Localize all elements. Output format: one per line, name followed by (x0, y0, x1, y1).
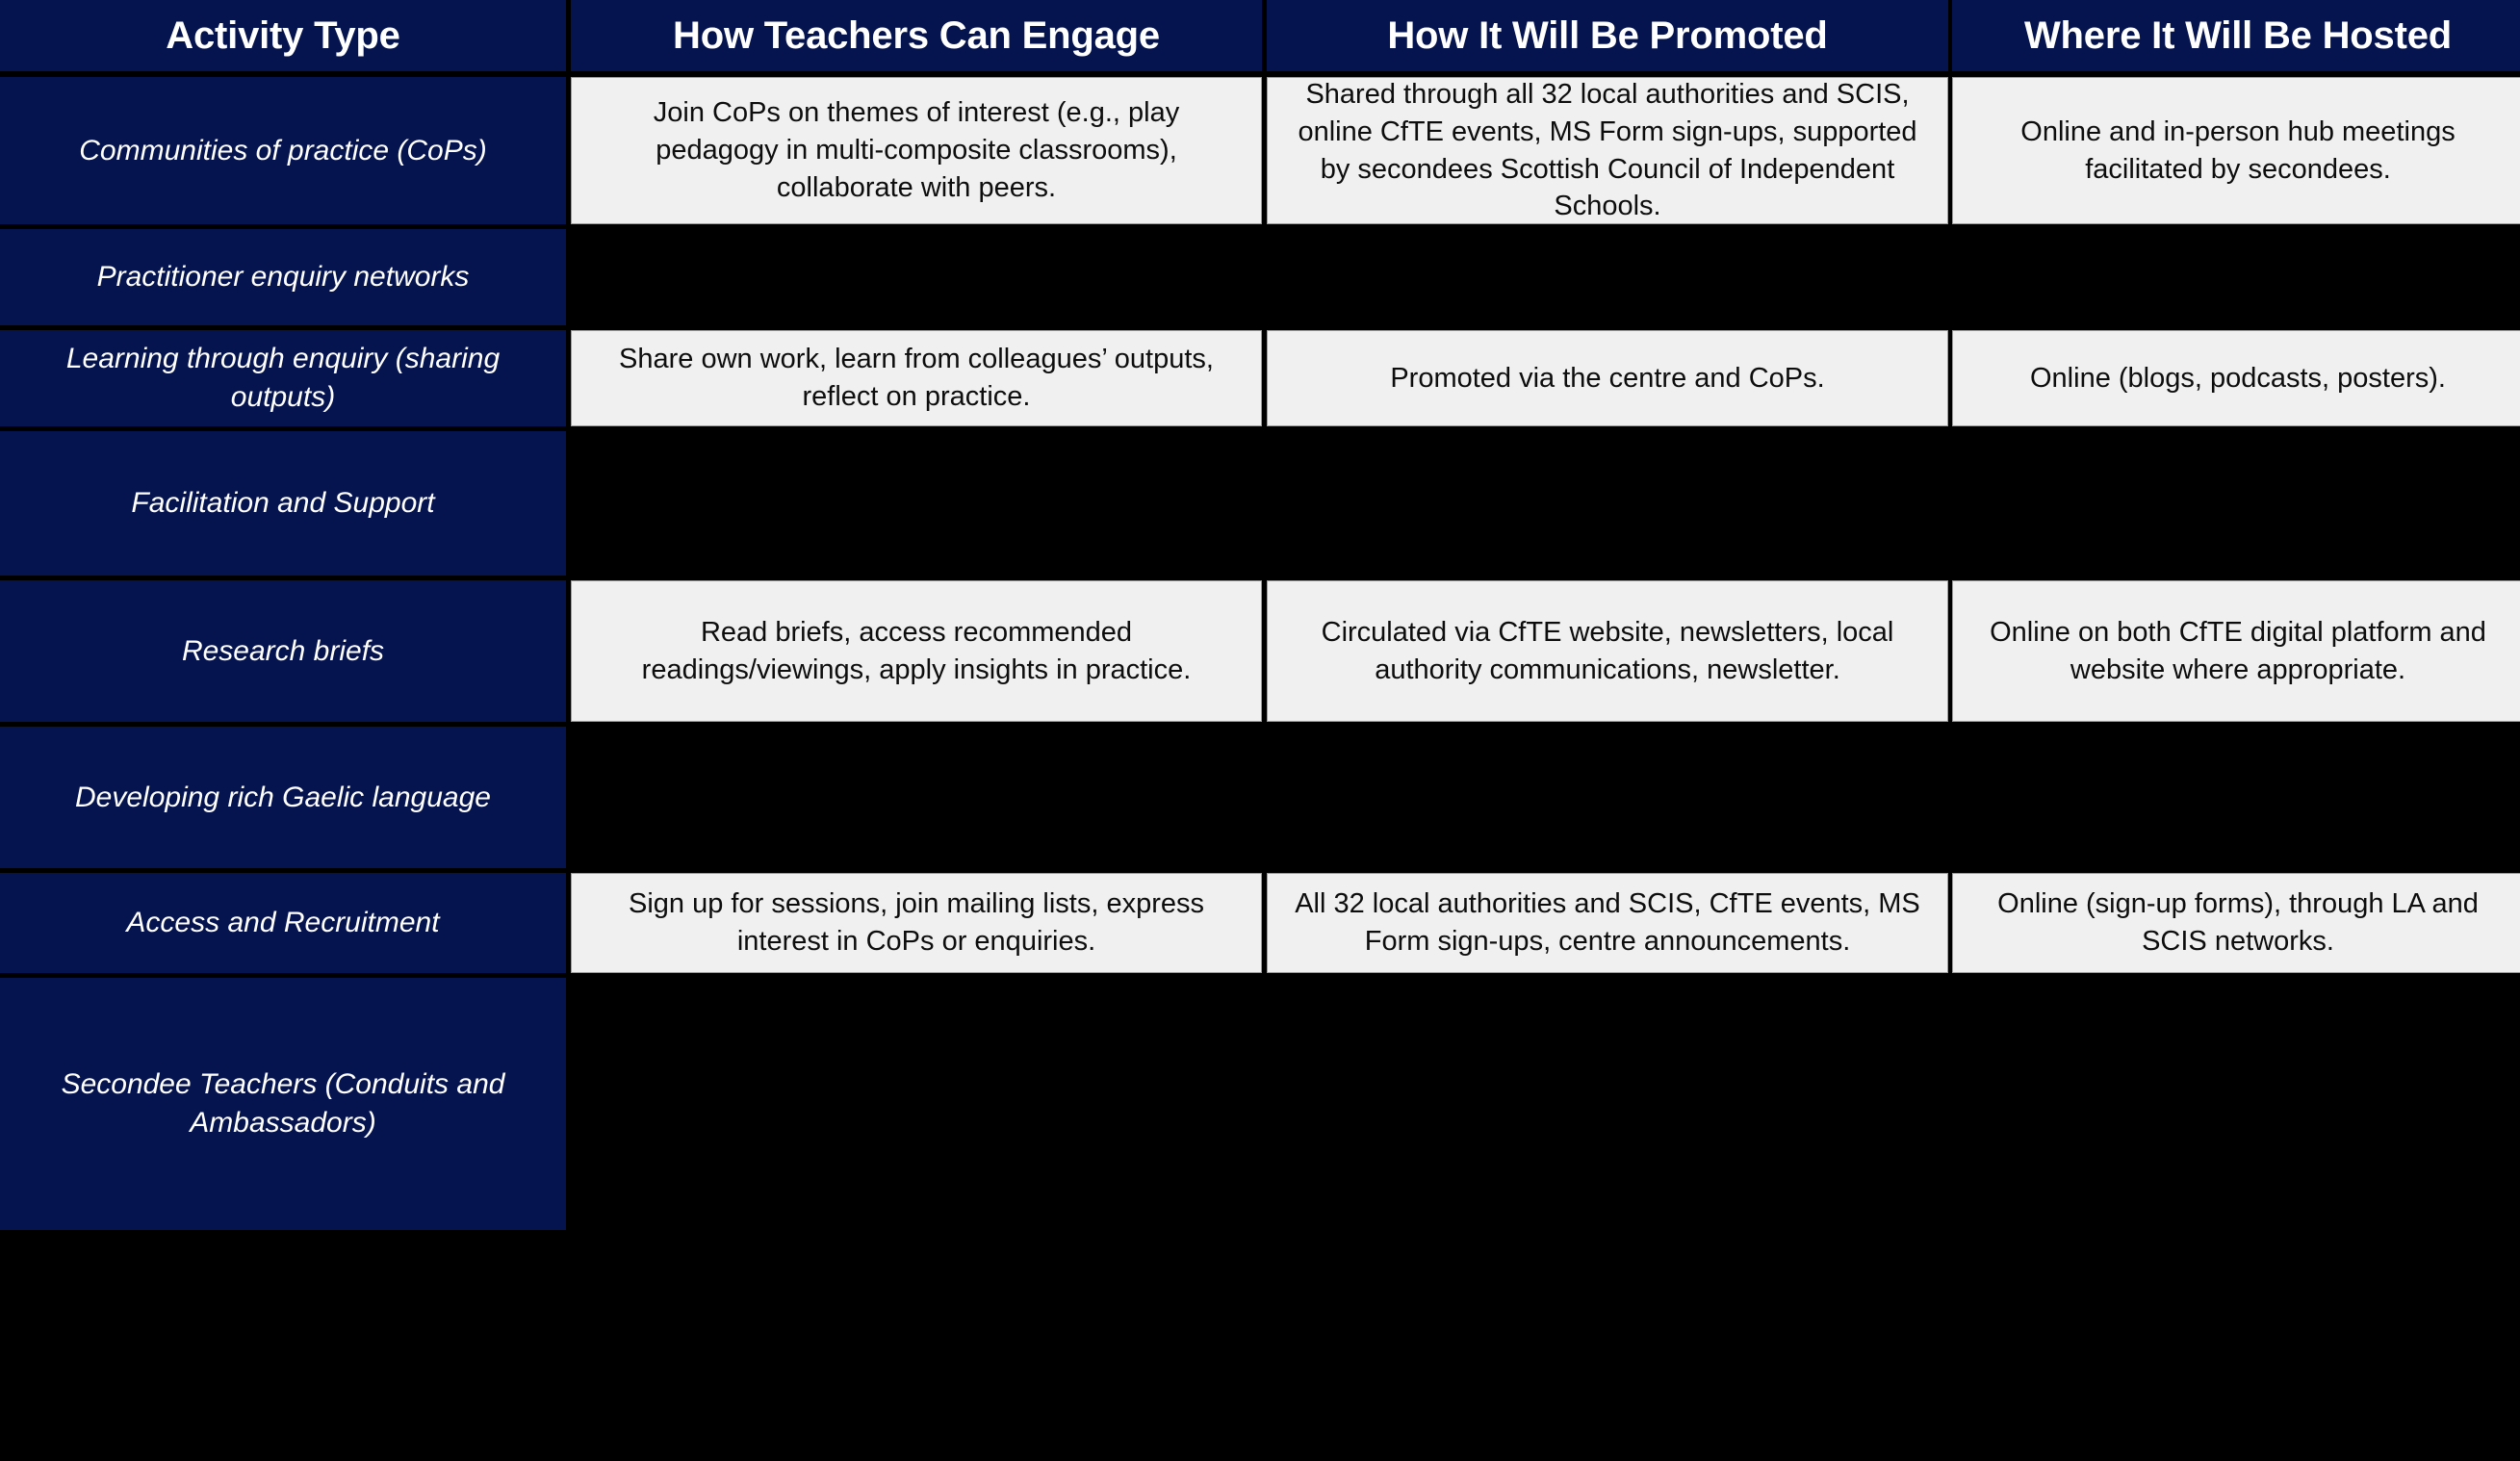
table-row: Facilitation and Support (0, 431, 2520, 576)
row-label-cell: Learning through enquiry (sharing output… (0, 330, 566, 426)
table-row: Research briefs Read briefs, access reco… (0, 580, 2520, 722)
row-engage-cell (571, 978, 1262, 1230)
table-row: Practitioner enquiry networks (0, 229, 2520, 325)
row-hosted-cell (1952, 431, 2520, 576)
row-promoted-cell: Promoted via the centre and CoPs. (1267, 330, 1948, 426)
column-header-activity-type: Activity Type (0, 0, 566, 71)
row-hosted-cell: Online and in-person hub meetings facili… (1952, 77, 2520, 224)
row-promoted-cell: Circulated via CfTE website, newsletters… (1267, 580, 1948, 722)
table-row: Developing rich Gaelic language (0, 727, 2520, 868)
row-hosted-cell (1952, 978, 2520, 1230)
row-promoted-cell: Shared through all 32 local authorities … (1267, 77, 1948, 224)
table-row: Secondee Teachers (Conduits and Ambassad… (0, 978, 2520, 1230)
row-hosted-cell (1952, 229, 2520, 325)
column-header-how-it-will-be-promoted: How It Will Be Promoted (1267, 0, 1948, 71)
table-row: Access and Recruitment Sign up for sessi… (0, 873, 2520, 973)
row-engage-cell (571, 229, 1262, 325)
column-header-how-teachers-can-engage: How Teachers Can Engage (571, 0, 1262, 71)
table-header-row: Activity Type How Teachers Can Engage Ho… (0, 0, 2520, 71)
row-hosted-cell: Online (sign-up forms), through LA and S… (1952, 873, 2520, 973)
column-header-where-it-will-be-hosted: Where It Will Be Hosted (1952, 0, 2520, 71)
row-promoted-cell (1267, 727, 1948, 868)
row-label-cell: Communities of practice (CoPs) (0, 77, 566, 224)
row-label-cell: Developing rich Gaelic language (0, 727, 566, 868)
table-row: Learning through enquiry (sharing output… (0, 330, 2520, 426)
row-hosted-cell (1952, 727, 2520, 868)
row-hosted-cell: Online on both CfTE digital platform and… (1952, 580, 2520, 722)
row-engage-cell (571, 727, 1262, 868)
table-row: Communities of practice (CoPs) Join CoPs… (0, 77, 2520, 224)
activity-plan-table: Activity Type How Teachers Can Engage Ho… (0, 0, 2520, 1461)
row-label-cell: Access and Recruitment (0, 873, 566, 973)
row-engage-cell: Read briefs, access recommended readings… (571, 580, 1262, 722)
row-promoted-cell (1267, 431, 1948, 576)
row-engage-cell: Share own work, learn from colleagues’ o… (571, 330, 1262, 426)
row-label-cell: Research briefs (0, 580, 566, 722)
row-engage-cell: Join CoPs on themes of interest (e.g., p… (571, 77, 1262, 224)
row-label-cell: Secondee Teachers (Conduits and Ambassad… (0, 978, 566, 1230)
row-promoted-cell (1267, 978, 1948, 1230)
row-engage-cell (571, 431, 1262, 576)
row-promoted-cell (1267, 229, 1948, 325)
row-label-cell: Practitioner enquiry networks (0, 229, 566, 325)
row-label-cell: Facilitation and Support (0, 431, 566, 576)
row-hosted-cell: Online (blogs, podcasts, posters). (1952, 330, 2520, 426)
row-promoted-cell: All 32 local authorities and SCIS, CfTE … (1267, 873, 1948, 973)
row-engage-cell: Sign up for sessions, join mailing lists… (571, 873, 1262, 973)
